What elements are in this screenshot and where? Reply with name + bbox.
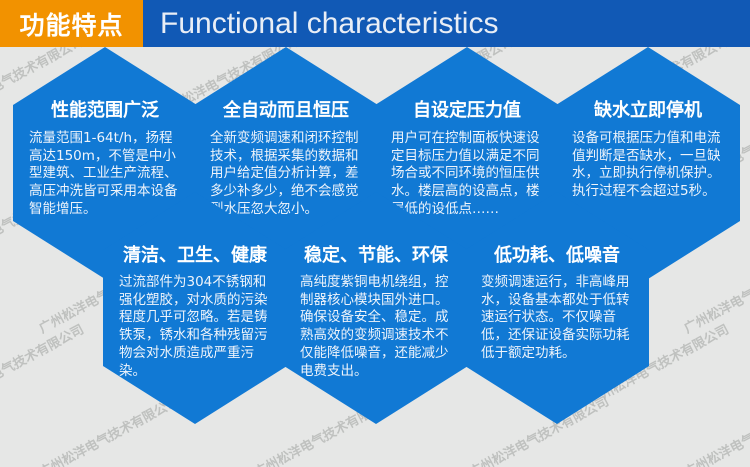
feature-body: 用户可在控制面板快速设定目标压力值以满足不同场合或不同环境的恒压供水。楼层高的设… [391, 130, 543, 219]
hexagon-grid: 性能范围广泛 流量范围1-64t/h，扬程高达150m，不管是中小型建筑、工业生… [0, 47, 750, 467]
feature-body: 设备可根据压力值和电流值判断是否缺水，一旦缺水，立即执行停机保护。执行过程不会超… [572, 130, 724, 201]
section-header: 功能特点 Functional characteristics [0, 0, 750, 47]
feature-body: 变频调速运行，非高峰用水，设备基本都处于低转速运行状态。不仅噪音低，还保证设备实… [481, 274, 633, 363]
section-header-english-label: Functional characteristics [160, 7, 498, 41]
feature-title: 全自动而且恒压 [223, 101, 349, 121]
feature-body: 高纯度紫铜电机绕组，控制器核心模块国外进口。确保设备安全、稳定。成熟高效的变频调… [300, 274, 452, 381]
section-header-badge-label: 功能特点 [19, 6, 123, 42]
section-header-english: Functional characteristics [160, 0, 498, 47]
feature-panel: 广州松洋电气技术有限公司广州松洋电气技术有限公司广州松洋电气技术有限公司广州松洋… [0, 0, 750, 467]
feature-title: 低功耗、低噪音 [494, 246, 620, 266]
feature-body: 流量范围1-64t/h，扬程高达150m，不管是中小型建筑、工业生产流程、高压冲… [29, 130, 181, 219]
feature-title: 稳定、节能、环保 [304, 246, 448, 266]
feature-title: 缺水立即停机 [594, 101, 702, 121]
section-header-badge: 功能特点 [0, 0, 143, 47]
feature-body: 过流部件为304不锈钢和强化塑胶，对水质的污染程度几乎可忽略。若是铸铁泵，锈水和… [119, 274, 271, 381]
feature-body: 全新变频调速和闭环控制技术，根据采集的数据和用户给定值分析计算，差多少补多少，绝… [210, 130, 362, 219]
feature-title: 清洁、卫生、健康 [123, 246, 267, 266]
feature-title: 性能范围广泛 [51, 101, 159, 121]
feature-title: 自设定压力值 [413, 101, 521, 121]
